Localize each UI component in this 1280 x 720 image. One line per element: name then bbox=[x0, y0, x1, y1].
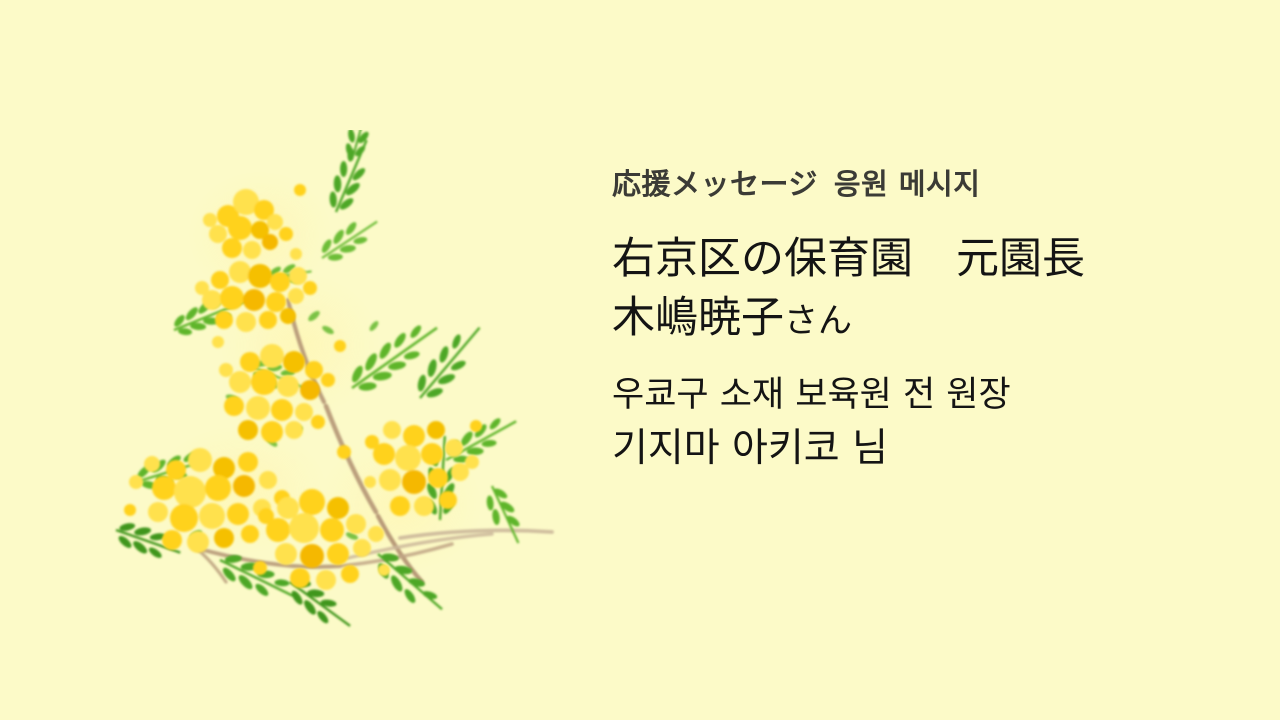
message-eyebrow: 応援メッセージ응원 메시지 bbox=[612, 168, 1172, 201]
person-name-japanese: 木嶋暁子さん bbox=[612, 290, 1172, 347]
affiliation-japanese: 右京区の保育園 元園長 bbox=[612, 231, 1172, 288]
mimosa-branch-illustration bbox=[100, 130, 620, 630]
person-name-korean: 기지마 아키코 님 bbox=[612, 424, 1172, 475]
korean-translation-group: 우쿄구 소재 보육원 전 원장 기지마 아키코 님 bbox=[612, 373, 1172, 475]
slide-canvas: 応援メッセージ응원 메시지 右京区の保育園 元園長 木嶋暁子さん 우쿄구 소재 … bbox=[0, 0, 1280, 720]
name-japanese: 木嶋暁子 bbox=[612, 293, 784, 343]
eyebrow-korean: 응원 메시지 bbox=[834, 167, 981, 201]
eyebrow-japanese: 応援メッセージ bbox=[612, 167, 818, 201]
honorific-japanese: さん bbox=[784, 301, 852, 341]
leaf-sprig bbox=[475, 481, 534, 549]
affiliation-korean: 우쿄구 소재 보육원 전 원장 bbox=[612, 373, 1172, 419]
message-text-block: 応援メッセージ응원 메시지 右京区の保育園 元園長 木嶋暁子さん 우쿄구 소재 … bbox=[612, 168, 1172, 475]
